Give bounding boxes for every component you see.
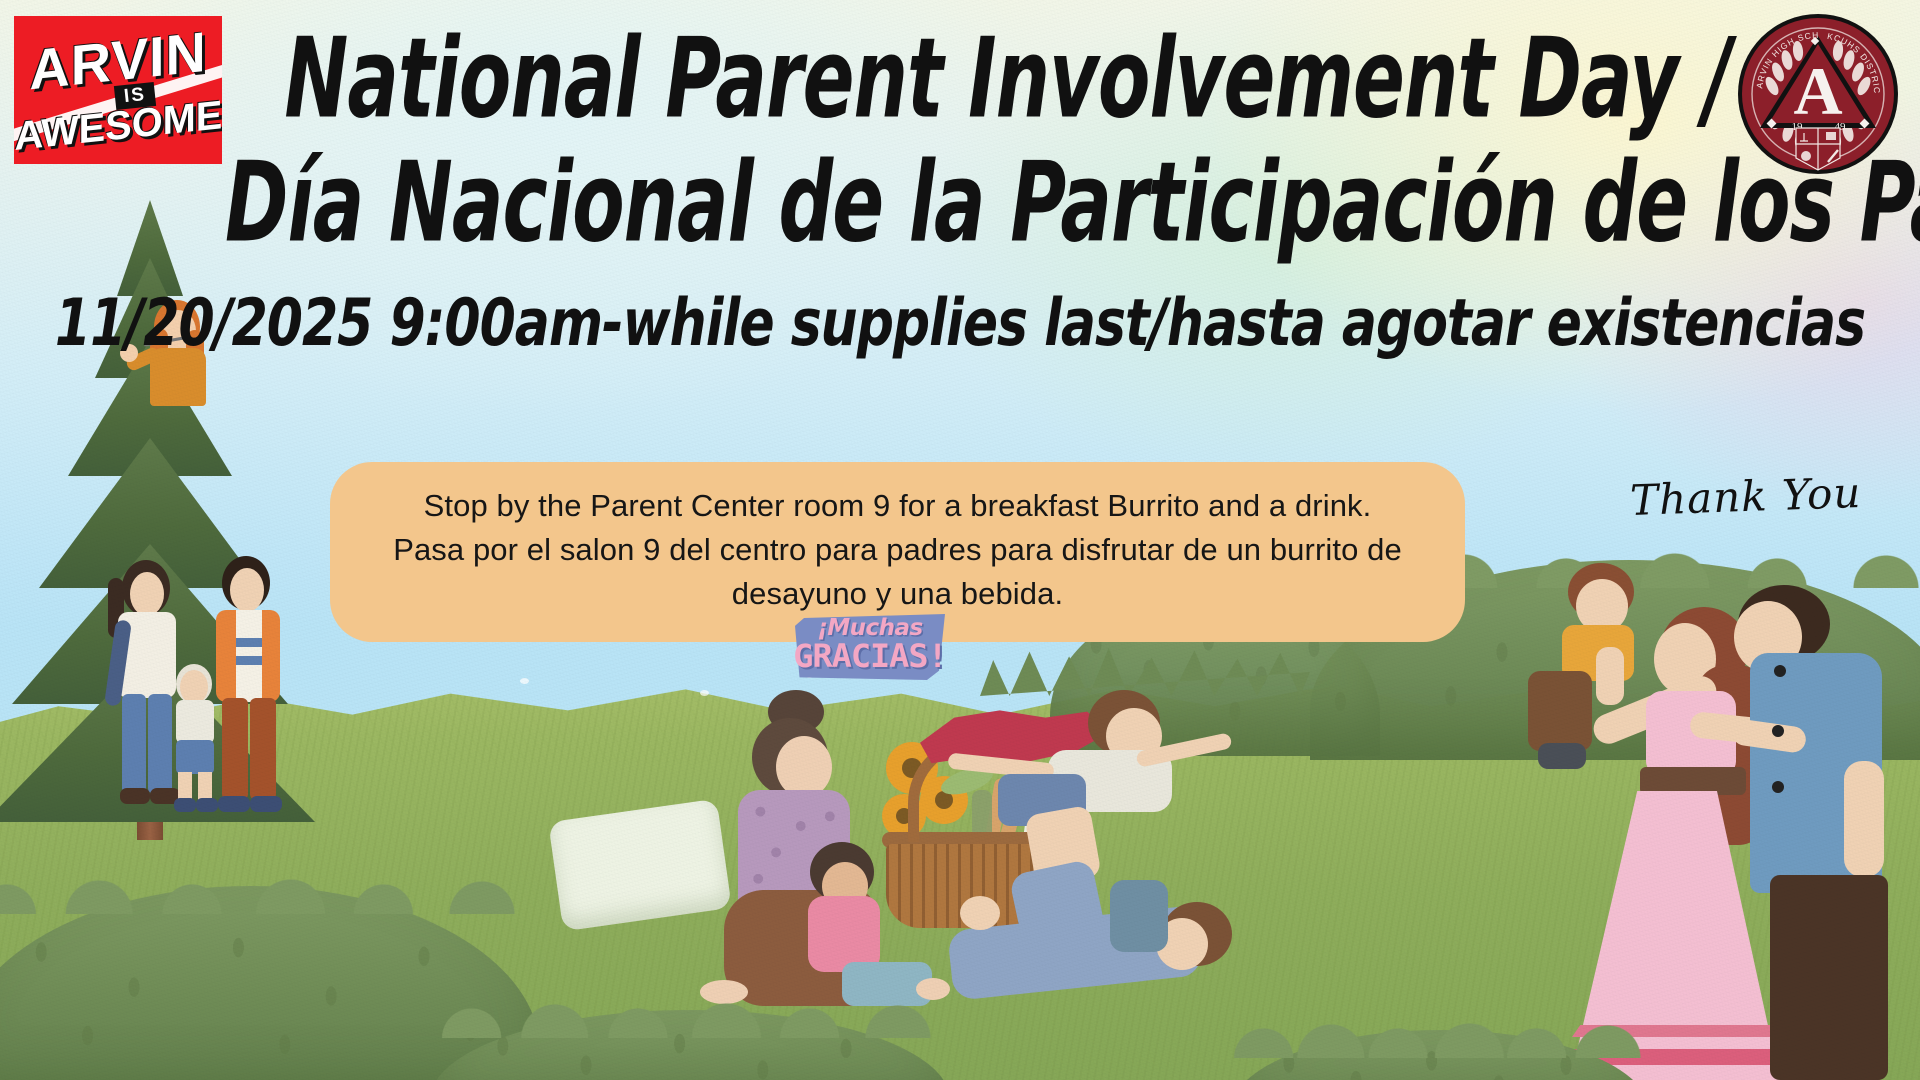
muchas-gracias-sticker: ¡Muchas GRACIAS! bbox=[795, 614, 945, 680]
title-line-2: Día Nacional de la Participación de los … bbox=[225, 148, 1695, 261]
gracias-bottom-text: GRACIAS! bbox=[791, 640, 949, 672]
family-right-illustration bbox=[1510, 545, 1920, 1080]
foreground-bush-right bbox=[1230, 1030, 1650, 1080]
page-title: National Parent Involvement Day / Día Na… bbox=[0, 24, 1920, 227]
event-datetime-line: 11/20/2025 9:00am-while supplies last/ha… bbox=[0, 286, 1920, 361]
pebble bbox=[520, 678, 529, 684]
thank-you-script: Thank You bbox=[1629, 468, 1862, 525]
info-line-english: Stop by the Parent Center room 9 for a b… bbox=[376, 484, 1419, 528]
flyer-canvas: ARVIN IS AWESOME bbox=[0, 0, 1920, 1080]
foreground-bush-center bbox=[430, 1010, 950, 1080]
title-line-1: National Parent Involvement Day / bbox=[284, 24, 1695, 137]
father-lifting-caped-child-illustration bbox=[930, 650, 1260, 960]
info-line-spanish-1: Pasa por el salon 9 del centro para padr… bbox=[376, 528, 1419, 572]
family-walking-illustration bbox=[100, 560, 340, 860]
info-line-spanish-2: desayuno y una bebida. bbox=[376, 572, 1419, 616]
